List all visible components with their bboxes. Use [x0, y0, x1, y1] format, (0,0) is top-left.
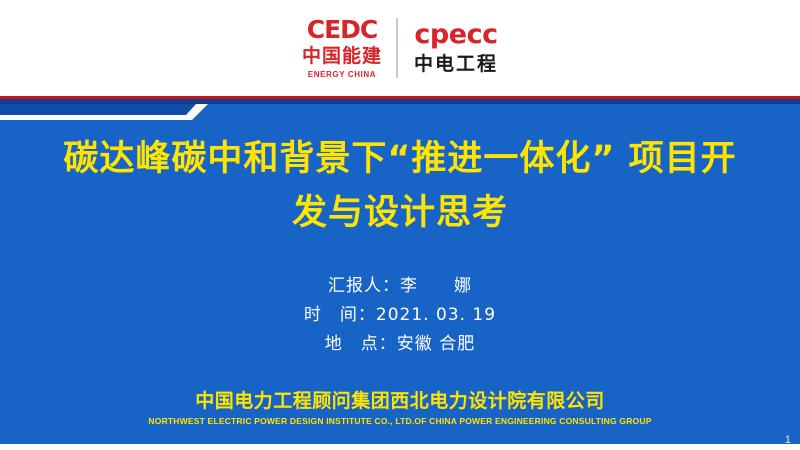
presentation-meta: 汇报人：李 娜 时 间：2021. 03. 19 地 点：安徽 合肥: [0, 272, 800, 360]
organization-name-chinese: 中国电力工程顾问集团西北电力设计院有限公司: [0, 386, 800, 413]
slide-header: CEDC 中国能建 ENERGY CHINA cpecc 中电工程: [0, 0, 800, 96]
energy-china-english-name: ENERGY CHINA: [308, 70, 376, 79]
cpecc-wordmark-icon: cpecc: [414, 21, 497, 48]
corner-fold-decoration: [0, 104, 208, 120]
meta-presenter: 汇报人：李 娜: [0, 272, 800, 301]
logo-group: CEDC 中国能建 ENERGY CHINA cpecc 中电工程: [302, 12, 498, 84]
slide-body: 碳达峰碳中和背景下“推进一体化” 项目开发与设计思考 汇报人：李 娜 时 间：2…: [0, 104, 800, 450]
footer-strip: [0, 444, 800, 450]
presentation-slide: CEDC 中国能建 ENERGY CHINA cpecc 中电工程 碳达峰碳中和…: [0, 0, 800, 450]
meta-date: 时 间：2021. 03. 19: [0, 301, 800, 330]
meta-location: 地 点：安徽 合肥: [0, 330, 800, 359]
cpecc-chinese-name: 中电工程: [414, 54, 498, 76]
energy-china-logo: CEDC 中国能建 ENERGY CHINA: [302, 17, 396, 80]
cpecc-logo: cpecc 中电工程: [398, 21, 498, 76]
organization-name-english: NORTHWEST ELECTRIC POWER DESIGN INSTITUT…: [0, 416, 800, 426]
energy-china-chinese-name: 中国能建: [302, 46, 382, 68]
page-title: 碳达峰碳中和背景下“推进一体化” 项目开发与设计思考: [60, 132, 740, 241]
cedc-wordmark-icon: CEDC: [307, 17, 378, 42]
corner-fold-inner-decoration: [0, 104, 196, 115]
